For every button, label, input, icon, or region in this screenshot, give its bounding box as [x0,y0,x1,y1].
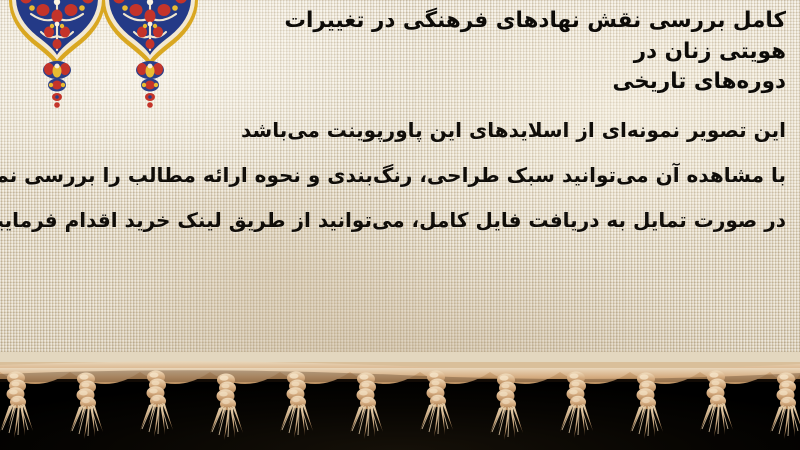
ornament-group [0,0,220,120]
presentation-slide: کامل بررسی نقش نهادهای فرهنگی در تغییرات… [0,0,800,450]
slide-body-line-1: این تصویر نمونه‌ای از اسلایدهای این پاور… [14,108,786,153]
slide-title-line-1: کامل بررسی نقش نهادهای فرهنگی در تغییرات… [226,6,786,67]
carpet-fringe [0,352,800,450]
medallion-left-icon [9,0,105,108]
slide-body: این تصویر نمونه‌ای از اسلایدهای این پاور… [14,108,786,243]
medallion-right-icon [102,0,198,108]
slide-title-line-2: دوره‌های تاریخی [226,67,786,98]
slide-title: کامل بررسی نقش نهادهای فرهنگی در تغییرات… [226,6,786,98]
slide-body-line-2: با مشاهده آن می‌توانید سبک طراحی، رنگ‌بن… [14,153,786,198]
slide-body-line-3: در صورت تمایل به دریافت فایل کامل، می‌تو… [14,198,786,243]
